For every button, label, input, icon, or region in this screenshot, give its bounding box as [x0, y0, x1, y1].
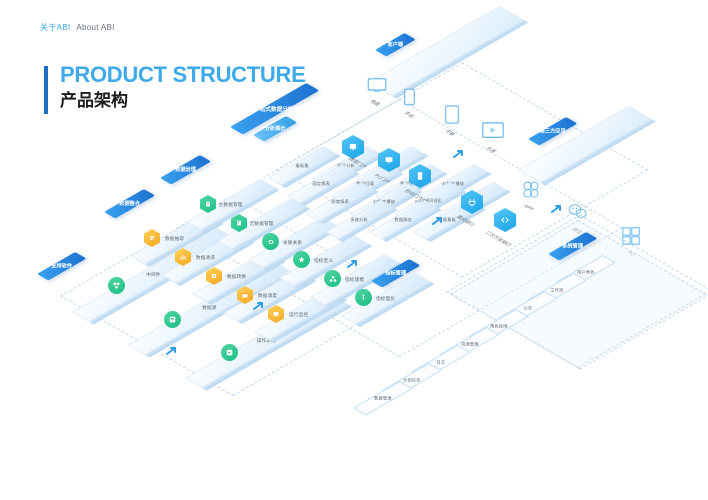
phone-icon — [404, 88, 415, 106]
app-grid-icon — [522, 181, 540, 199]
tag-platform-label: ABI一站式数据分析平台 — [231, 101, 319, 116]
architecture-diagram: 中间件 数据源 操作系统 支持软件 数据抽取 数据清洗 数据转换 — [0, 0, 708, 500]
tag-governance-label: 数据治理 — [163, 163, 209, 176]
tablet-icon — [445, 105, 459, 124]
flow-arrow-5 — [166, 345, 180, 357]
tag-client-label: 客户端 — [378, 38, 412, 51]
tag-thirdparty-label: 第三方应用 — [531, 125, 575, 138]
tag-client[interactable]: 客户端 — [375, 33, 416, 56]
tag-data-governance[interactable]: 数据治理 — [160, 155, 211, 184]
tag-analysis-label: 分析展示 — [256, 122, 294, 135]
tag-support-label: 支持软件 — [40, 260, 84, 273]
client-label-0: 电脑 — [368, 99, 382, 107]
large-screen-icon — [482, 122, 504, 139]
flow-arrow-3 — [453, 148, 467, 160]
indicator-define-icon — [293, 251, 310, 268]
os-icon — [221, 344, 238, 361]
middleware-icon — [108, 277, 125, 294]
tag-system-label: 系统管理 — [551, 240, 595, 253]
system-label-7: 数据管理 — [356, 391, 410, 406]
tag-integration-label: 数据整合 — [107, 197, 153, 210]
indicator-model-icon — [324, 270, 341, 287]
datasource-icon — [164, 311, 181, 328]
flow-arrow-1 — [347, 258, 361, 270]
system-item-7[interactable]: 数据管理 — [353, 381, 413, 415]
wechat-icon — [568, 203, 588, 219]
flow-arrow-2 — [432, 215, 446, 227]
desktop-icon — [367, 78, 387, 94]
flow-arrow-4 — [551, 203, 565, 215]
indicator-solidify-icon — [355, 289, 372, 306]
relation-icon — [262, 233, 279, 250]
tag-data-integration[interactable]: 数据整合 — [104, 189, 155, 218]
windows-icon — [622, 227, 640, 245]
tag-indicator-label: 指标管理 — [374, 267, 418, 280]
flow-arrow-0 — [253, 300, 267, 312]
